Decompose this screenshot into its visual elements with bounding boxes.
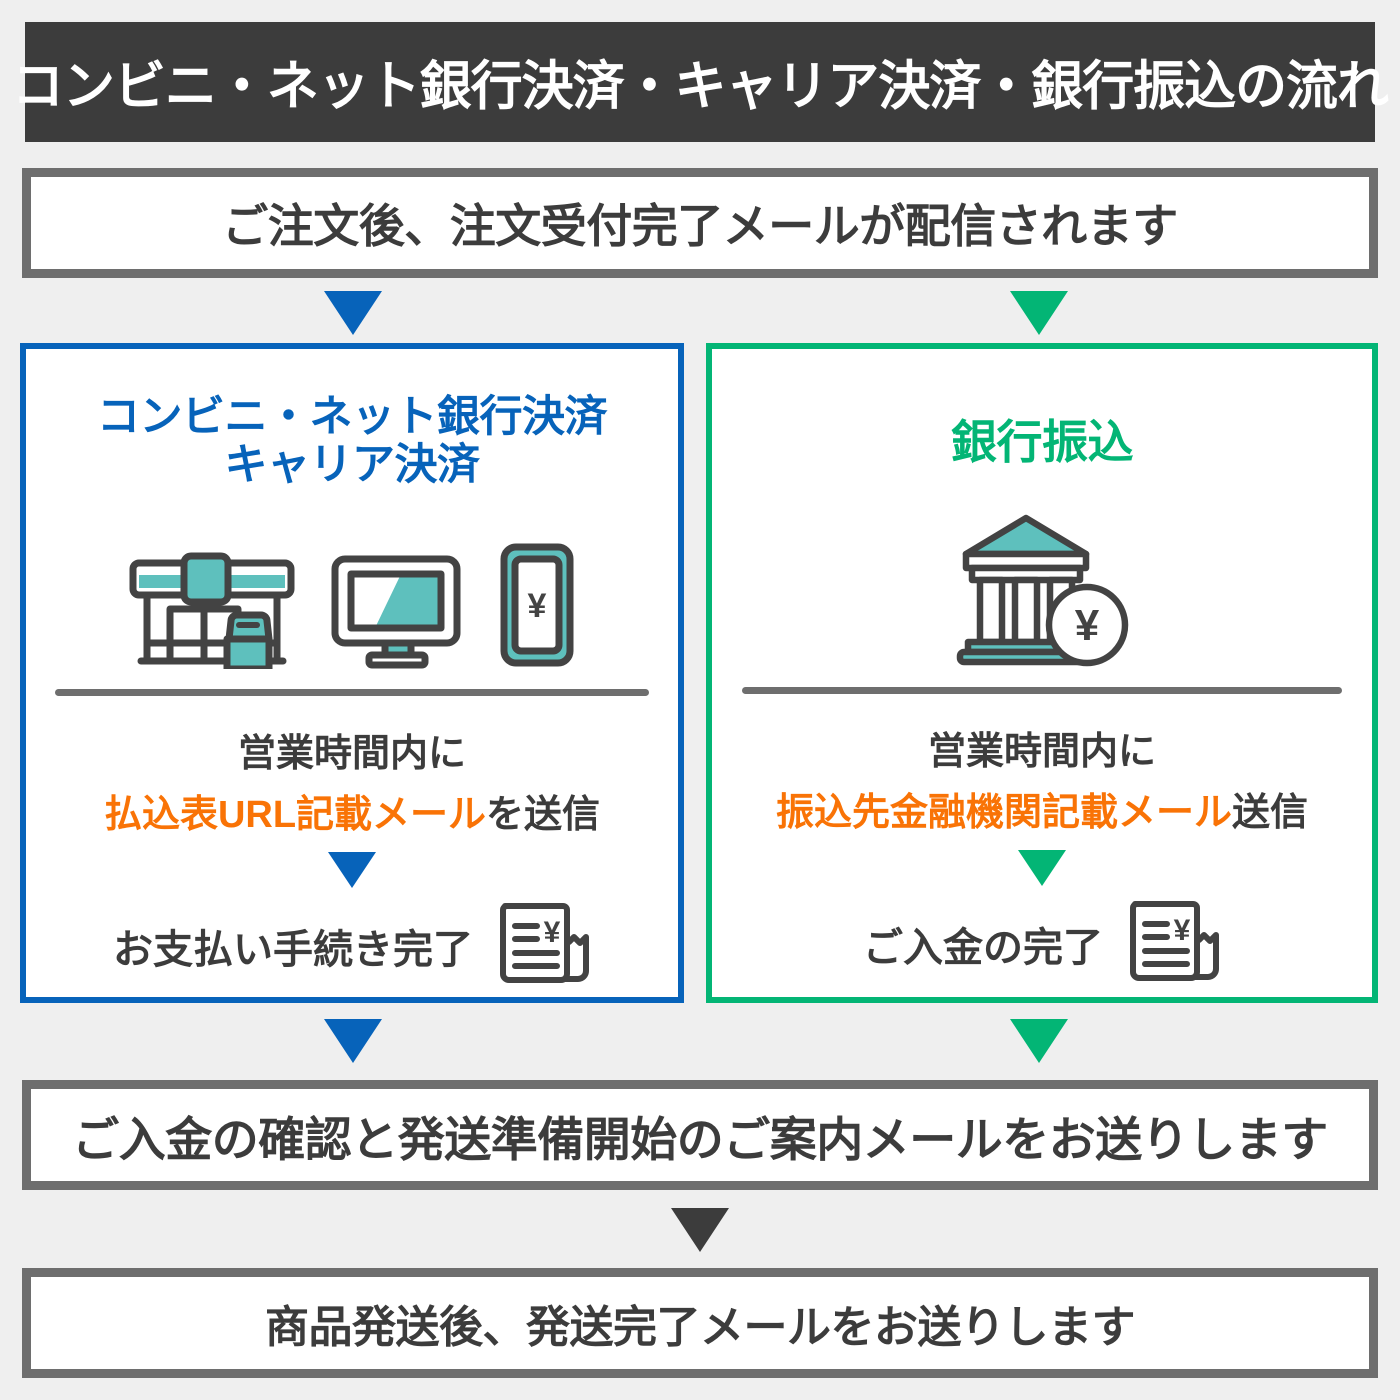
arrow-conveni-inner-icon bbox=[328, 852, 376, 888]
payment-flow-diagram: コンビニ・ネット銀行決済・キャリア決済・銀行振込の流れ ご注文後、注文受付完了メ… bbox=[0, 0, 1400, 1400]
panel-conveni-note-line2: 払込表URL記載メールを送信 bbox=[26, 783, 678, 838]
svg-text:¥: ¥ bbox=[1174, 914, 1191, 947]
panel-conveni-completion-row: お支払い手続き完了 ¥ bbox=[26, 896, 678, 996]
panel-bank-divider bbox=[742, 687, 1342, 694]
arrow-to-bank-icon bbox=[1010, 291, 1068, 335]
desktop-monitor-icon bbox=[329, 549, 464, 669]
arrow-to-conveni-icon bbox=[324, 291, 382, 335]
panel-conveni-icon-row: ¥ bbox=[26, 519, 678, 669]
svg-text:¥: ¥ bbox=[1074, 601, 1099, 650]
svg-text:¥: ¥ bbox=[544, 916, 561, 949]
arrow-confirm-to-shipped-icon bbox=[671, 1208, 729, 1252]
bank-building-yen-icon: ¥ bbox=[950, 512, 1135, 667]
panel-bank-icon-row: ¥ bbox=[712, 517, 1372, 667]
panel-conveni-payment: コンビニ・ネット銀行決済 キャリア決済 bbox=[20, 343, 684, 1003]
panel-conveni-title: コンビニ・ネット銀行決済 キャリア決済 bbox=[26, 393, 678, 489]
panel-bank-note-suffix: 送信 bbox=[1232, 792, 1308, 834]
diagram-header: コンビニ・ネット銀行決済・キャリア決済・銀行振込の流れ bbox=[25, 22, 1375, 142]
arrow-bank-to-confirm-icon bbox=[1010, 1019, 1068, 1063]
step-shipped-box: 商品発送後、発送完了メールをお送りします bbox=[22, 1268, 1378, 1378]
arrow-bank-inner-icon bbox=[1018, 850, 1066, 886]
panel-bank-completion-label: ご入金の完了 bbox=[863, 915, 1103, 973]
panel-bank-note-highlight: 振込先金融機関記載メール bbox=[776, 792, 1232, 834]
step-payment-confirmed-label: ご入金の確認と発送準備開始のご案内メールをお送りします bbox=[72, 1101, 1328, 1170]
panel-conveni-inner-arrow-wrap bbox=[26, 852, 678, 888]
panel-bank-note-line2: 振込先金融機関記載メール送信 bbox=[712, 781, 1372, 836]
step-payment-confirmed-box: ご入金の確認と発送準備開始のご案内メールをお送りします bbox=[22, 1080, 1378, 1190]
smartphone-yen-icon: ¥ bbox=[496, 541, 578, 669]
panel-bank-inner-arrow-wrap bbox=[712, 850, 1372, 886]
panel-conveni-completion-label: お支払い手続き完了 bbox=[113, 917, 473, 975]
step-shipped-label: 商品発送後、発送完了メールをお送りします bbox=[265, 1291, 1135, 1355]
panel-bank-completion-row: ご入金の完了 ¥ bbox=[712, 894, 1372, 994]
step-order-received-label: ご注文後、注文受付完了メールが配信されます bbox=[222, 190, 1178, 256]
svg-text:¥: ¥ bbox=[527, 587, 546, 625]
convenience-store-icon bbox=[127, 549, 297, 669]
panel-bank-transfer: 銀行振込 bbox=[706, 343, 1378, 1003]
page-title: コンビニ・ネット銀行決済・キャリア決済・銀行振込の流れ bbox=[12, 44, 1388, 120]
panel-conveni-divider bbox=[55, 689, 649, 696]
panel-bank-note-line1: 営業時間内に bbox=[712, 720, 1372, 775]
panel-bank-title: 銀行振込 bbox=[712, 417, 1372, 469]
panel-conveni-note-line1: 営業時間内に bbox=[26, 722, 678, 777]
panel-conveni-note-suffix: を送信 bbox=[486, 794, 600, 836]
receipt-yen-icon: ¥ bbox=[491, 896, 591, 996]
receipt-yen-icon: ¥ bbox=[1121, 894, 1221, 994]
panel-conveni-note-highlight: 払込表URL記載メール bbox=[104, 794, 486, 836]
step-order-received-box: ご注文後、注文受付完了メールが配信されます bbox=[22, 168, 1378, 278]
arrow-conveni-to-confirm-icon bbox=[324, 1019, 382, 1063]
